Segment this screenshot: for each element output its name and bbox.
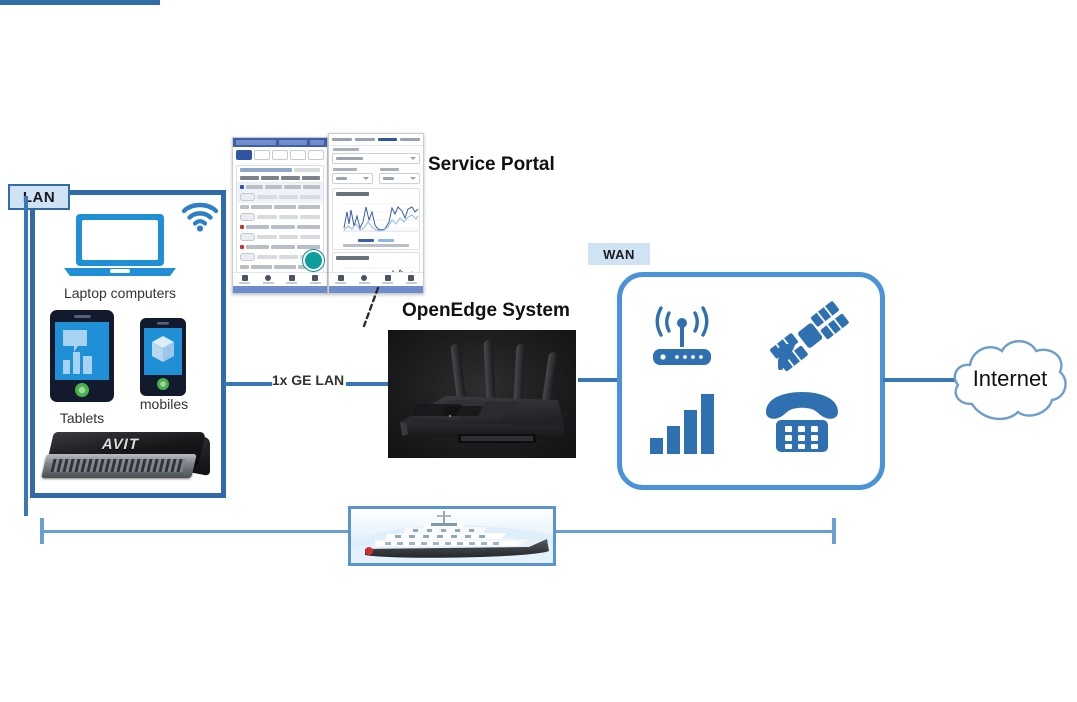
vessel-span-line-right bbox=[554, 530, 836, 533]
nav2-item-0[interactable] bbox=[329, 275, 353, 284]
period-select[interactable] bbox=[332, 153, 420, 164]
avit-label: AVIT bbox=[100, 436, 141, 453]
portal-to-router-dashed-link bbox=[352, 286, 392, 328]
nav-item-0[interactable] bbox=[233, 275, 257, 284]
lan-left-riser bbox=[24, 196, 28, 516]
portal-tab-3[interactable] bbox=[290, 150, 306, 160]
lan-top-connector bbox=[0, 0, 160, 5]
service-portal-title: Service Portal bbox=[428, 154, 555, 176]
yacht-illustration bbox=[348, 506, 556, 566]
nav2-item-3[interactable] bbox=[400, 275, 424, 284]
openedge-system-title: OpenEdge System bbox=[402, 300, 570, 322]
nav2-item-1[interactable] bbox=[353, 275, 377, 284]
ge-lan-link-label: 1x GE LAN bbox=[262, 372, 354, 388]
filter-label-period bbox=[333, 148, 359, 151]
portal-header-bar bbox=[233, 138, 327, 147]
internet-cloud: Internet bbox=[948, 332, 1072, 428]
tablet-label: Tablets bbox=[36, 410, 128, 426]
edge-to-wan-line bbox=[578, 378, 622, 382]
portal-tab-row[interactable] bbox=[233, 147, 327, 163]
vessel-span-line-left bbox=[40, 530, 350, 533]
internet-label: Internet bbox=[948, 366, 1072, 392]
span-tick-left bbox=[40, 518, 44, 544]
portal-bottom-nav[interactable] bbox=[233, 272, 327, 286]
wan-badge: WAN bbox=[588, 243, 650, 265]
lan-badge: LAN bbox=[8, 184, 70, 210]
interface-select[interactable] bbox=[332, 173, 373, 184]
wan-badge-label: WAN bbox=[603, 247, 635, 262]
portal-tab-1[interactable] bbox=[254, 150, 270, 160]
mobile-label: mobiles bbox=[126, 396, 202, 412]
span-tick-right bbox=[832, 518, 836, 544]
portal-help-badge[interactable] bbox=[303, 250, 324, 271]
nav-item-2[interactable] bbox=[280, 275, 304, 284]
service-portal-list-screen[interactable] bbox=[232, 137, 328, 294]
nav-item-1[interactable] bbox=[257, 275, 281, 284]
laptop-label: Laptop computers bbox=[40, 285, 200, 301]
satellite-icon bbox=[768, 300, 852, 374]
portal-tab-4[interactable] bbox=[308, 150, 324, 160]
wifi-icon bbox=[180, 200, 220, 234]
nav2-item-2[interactable] bbox=[376, 275, 400, 284]
service-portal-charts-screen[interactable] bbox=[328, 133, 424, 294]
tablet-icon bbox=[50, 310, 114, 402]
portal-tab-0[interactable] bbox=[236, 150, 252, 160]
portal-bottom-nav-2[interactable] bbox=[329, 272, 423, 286]
openedge-router-image bbox=[388, 330, 576, 458]
telephone-icon bbox=[762, 392, 842, 454]
signal-bars-icon bbox=[648, 390, 718, 456]
nav-item-3[interactable] bbox=[304, 275, 328, 284]
data-usage-chart bbox=[332, 188, 420, 250]
avit-appliance-icon: AVIT bbox=[40, 432, 210, 484]
portal-tab-2[interactable] bbox=[272, 150, 288, 160]
wireless-router-icon bbox=[645, 305, 719, 375]
scale-select[interactable] bbox=[379, 173, 420, 184]
wan-to-internet-line bbox=[883, 378, 955, 382]
portal-tabs-header[interactable] bbox=[329, 134, 423, 146]
portal-status-bar bbox=[233, 286, 327, 293]
mobile-icon bbox=[140, 318, 186, 396]
laptop-icon bbox=[62, 212, 178, 280]
